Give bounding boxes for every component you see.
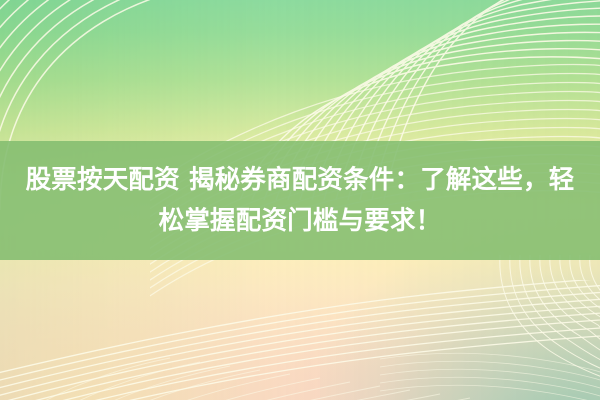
page-title: 股票按天配资 揭秘券商配资条件：了解这些，轻松掌握配资门槛与要求！: [0, 160, 600, 242]
article-banner: 股票按天配资 揭秘券商配资条件：了解这些，轻松掌握配资门槛与要求！: [0, 0, 600, 400]
title-band: 股票按天配资 揭秘券商配资条件：了解这些，轻松掌握配资门槛与要求！: [0, 141, 600, 260]
